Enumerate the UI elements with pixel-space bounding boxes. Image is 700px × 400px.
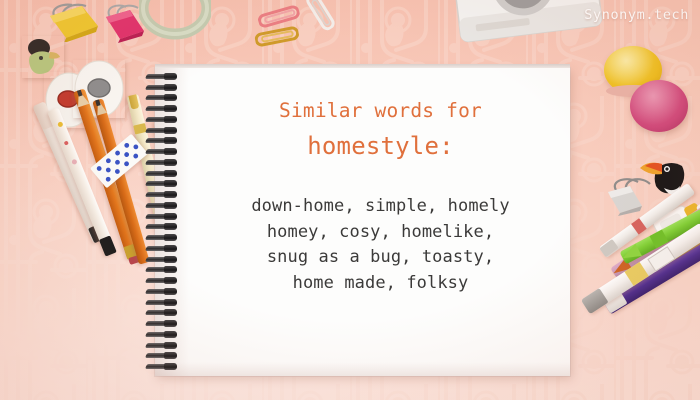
spiral-coil <box>146 74 182 79</box>
synonym-line: home made, folksy <box>191 271 570 297</box>
spiral-coil <box>146 321 182 326</box>
query-term: homestyle: <box>191 128 570 164</box>
spiral-coil <box>146 246 182 251</box>
watermark: Synonym.tech <box>584 7 689 23</box>
spiral-coil <box>146 95 182 100</box>
page-top-edge <box>155 64 570 68</box>
spiral-coil <box>146 332 182 337</box>
spiral-coil <box>146 257 182 262</box>
spiral-coil <box>146 343 182 348</box>
spiral-coil <box>146 214 182 219</box>
spiral-coil <box>146 289 182 294</box>
spiral-coil <box>146 106 182 111</box>
page-heading: Similar words for homestyle: <box>191 96 570 164</box>
notebook-page: Similar words for homestyle: down-home, … <box>155 68 570 376</box>
spiral-coil <box>146 85 182 90</box>
synonym-list: down-home, simple, homely homey, cosy, h… <box>191 194 570 296</box>
spiral-coil <box>146 235 182 240</box>
spiral-coil <box>146 138 182 143</box>
spiral-coil <box>146 364 182 369</box>
washi-tape-ring <box>139 0 211 42</box>
synonym-line: down-home, simple, homely <box>191 194 570 220</box>
spiral-coil <box>146 117 182 122</box>
heading-prefix: Similar words for <box>191 96 570 125</box>
spiral-coil <box>146 181 182 186</box>
spiral-coil <box>146 310 182 315</box>
page-shadow-bottom <box>155 362 570 376</box>
spiral-coil <box>146 128 182 133</box>
synonym-line: snug as a bug, toasty, <box>191 245 570 271</box>
spiral-coil <box>146 267 182 272</box>
spiral-coil <box>146 224 182 229</box>
spiral-coil <box>146 203 182 208</box>
spiral-coil <box>146 160 182 165</box>
spiral-coil <box>146 278 182 283</box>
spiral-coil <box>146 353 182 358</box>
spiral-coil <box>146 149 182 154</box>
macaron-pink <box>630 80 688 132</box>
synonym-line: homey, cosy, homelike, <box>191 220 570 246</box>
spiral-coil <box>146 171 182 176</box>
spiral-binding <box>146 74 186 370</box>
spiral-coil <box>146 192 182 197</box>
screenshot-root: Similar words for homestyle: down-home, … <box>0 0 700 400</box>
spiral-coil <box>146 300 182 305</box>
